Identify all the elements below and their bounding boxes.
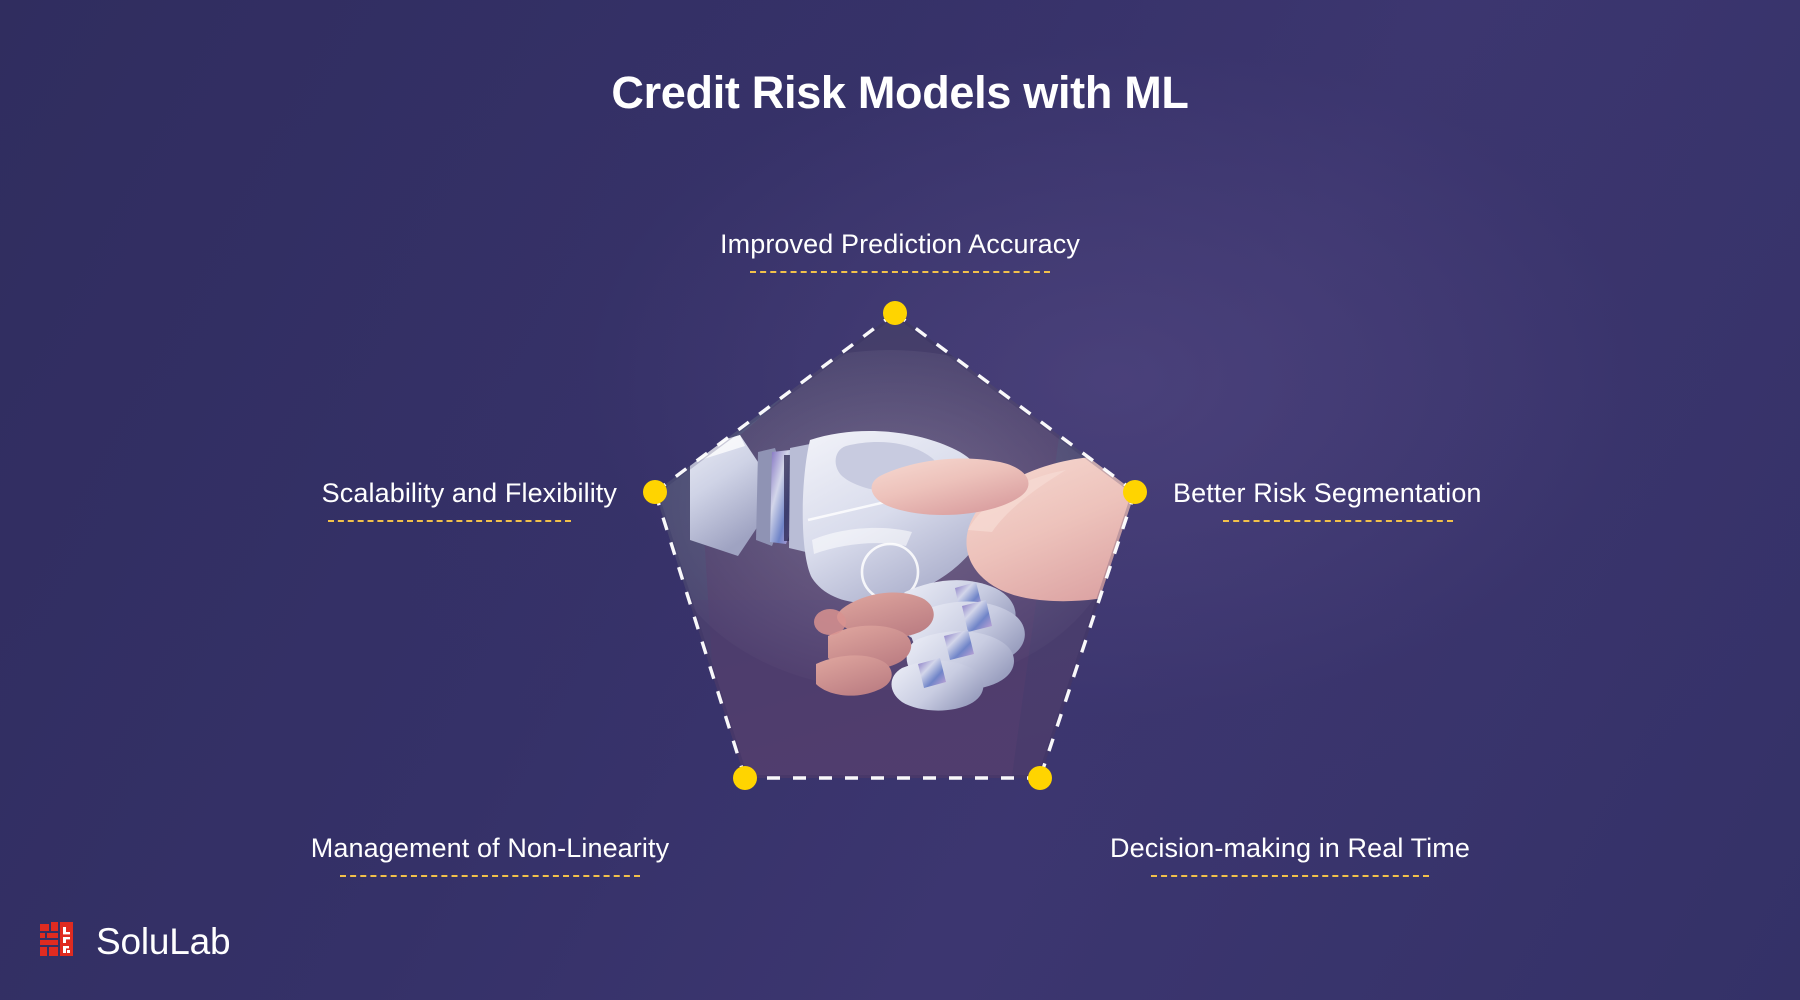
node-label-underline [340, 875, 640, 877]
vertex-dot-bottom-left[interactable] [733, 766, 757, 790]
vertex-dot-right[interactable] [1123, 480, 1147, 504]
node-label-better-risk-segmentation: Better Risk Segmentation [1173, 477, 1603, 522]
node-label-improved-prediction-accuracy: Improved Prediction Accuracy [640, 228, 1160, 273]
node-label-underline [750, 271, 1050, 273]
node-label-text: Decision-making in Real Time [1040, 832, 1540, 866]
node-label-underline [328, 520, 571, 522]
node-label-scalability-and-flexibility: Scalability and Flexibility [205, 477, 617, 522]
node-label-text: Improved Prediction Accuracy [640, 228, 1160, 262]
solulab-logo: SoluLab [38, 918, 230, 964]
solulab-logo-mark-icon [38, 918, 84, 964]
node-label-text: Scalability and Flexibility [205, 477, 617, 511]
node-label-text: Management of Non-Linearity [240, 832, 740, 866]
infographic-canvas: Credit Risk Models with ML [0, 0, 1800, 1000]
node-label-decision-making-in-real-time: Decision-making in Real Time [1040, 832, 1540, 877]
vertex-dot-left[interactable] [643, 480, 667, 504]
node-label-underline [1151, 875, 1429, 877]
node-label-text: Better Risk Segmentation [1173, 477, 1603, 511]
vertex-dot-top[interactable] [883, 301, 907, 325]
solulab-wordmark: SoluLab [96, 923, 230, 960]
node-label-underline [1223, 520, 1453, 522]
vertex-dot-bottom-right[interactable] [1028, 766, 1052, 790]
pentagon-image-fill [600, 260, 1210, 820]
node-label-management-of-non-linearity: Management of Non-Linearity [240, 832, 740, 877]
